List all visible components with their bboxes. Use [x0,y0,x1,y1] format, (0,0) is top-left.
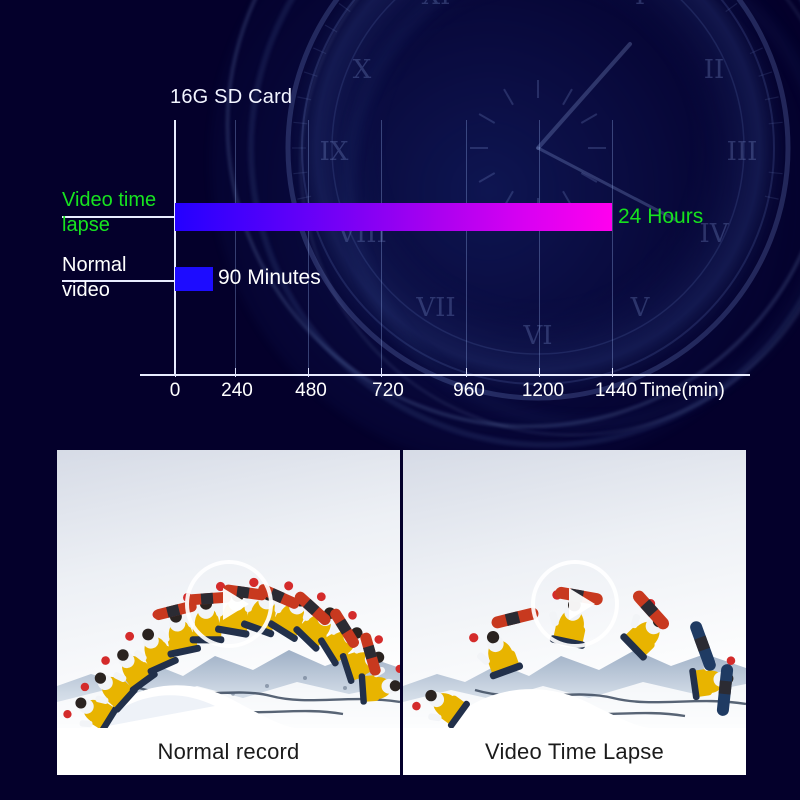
gridline [539,120,540,374]
category-label-video-time-lapse: Video time lapse [62,188,170,238]
video-card-video-time-lapse[interactable]: Video Time Lapse [403,450,746,775]
bar-value-normal-video: 90 Minutes [218,266,321,290]
play-icon[interactable] [531,560,619,648]
x-axis-tick [175,368,176,377]
gridline [381,120,382,374]
video-comparison-row: Normal record [0,450,800,780]
x-axis-label: 0 [170,380,181,402]
bar-value-video-time-lapse: 24 Hours [618,203,703,231]
y-axis-line [174,120,176,376]
x-axis-label: 960 [453,380,485,402]
x-axis-tick [235,368,236,377]
bar-normal-video [175,267,213,291]
x-axis-label: 1440 [595,380,637,402]
bar-video-time-lapse [175,203,612,231]
x-axis-label: 1200 [522,380,564,402]
video-card-normal-record[interactable]: Normal record [57,450,400,775]
promo-graphic: XII I II III IV V VI VII VIII IX X XI 16 [0,0,800,800]
x-axis-label: 480 [295,380,327,402]
x-axis-title: Time(min) [640,380,725,402]
x-axis-tick [612,368,613,377]
x-axis-tick [381,368,382,377]
comparison-chart: 16G SD Card 0 240 480 720 960 1200 1440 … [0,0,800,420]
x-axis-line [140,374,750,376]
x-axis-tick [539,368,540,377]
x-axis-label: 720 [372,380,404,402]
gridline [466,120,467,374]
x-axis-label: 240 [221,380,253,402]
gridline [612,120,613,374]
video-caption-normal-record: Normal record [57,728,400,775]
gridline [235,120,236,374]
gridline [308,120,309,374]
video-caption-video-time-lapse: Video Time Lapse [403,728,746,775]
x-axis-tick [308,368,309,377]
play-icon[interactable] [185,560,273,648]
category-label-normal-video: Normal video [62,253,170,303]
chart-title: 16G SD Card [170,86,292,109]
x-axis-tick [466,368,467,377]
